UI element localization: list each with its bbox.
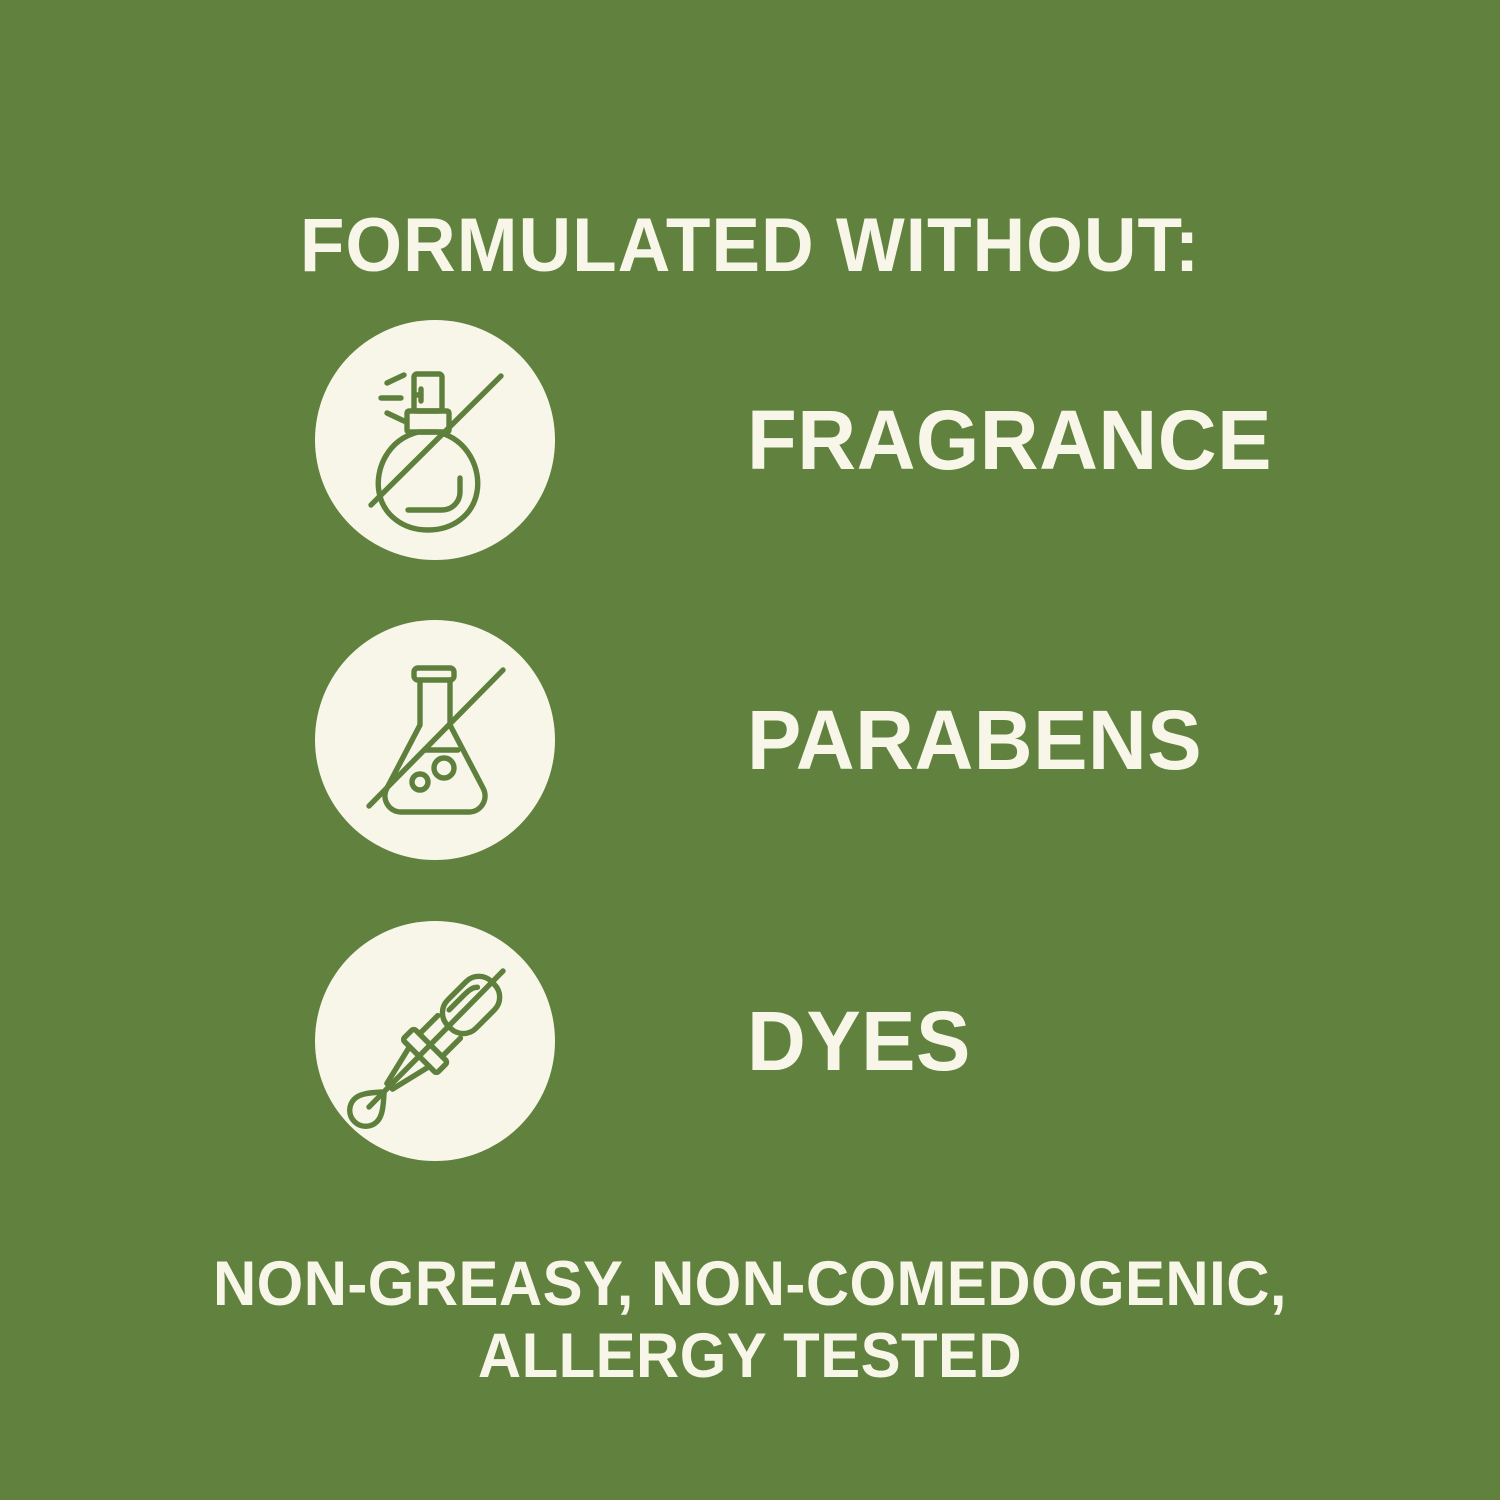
formulated-without-infographic: FORMULATED WITHOUT:	[0, 0, 1500, 1500]
claim-label: DYES	[747, 996, 971, 1086]
claim-label: FRAGRANCE	[747, 395, 1272, 485]
no-parabens-flask-icon	[315, 620, 555, 860]
no-fragrance-spray-bottle-icon	[315, 320, 555, 560]
claim-row: DYES	[315, 921, 1415, 1161]
no-dyes-dropper-icon	[315, 921, 555, 1161]
claim-row: PARABENS	[315, 620, 1415, 860]
footer-claims: NON-GREASY, NON-COMEDOGENIC, ALLERGY TES…	[38, 1248, 1463, 1392]
footer-line-1: NON-GREASY, NON-COMEDOGENIC,	[38, 1248, 1463, 1320]
claim-row: FRAGRANCE	[315, 320, 1415, 560]
footer-line-2: ALLERGY TESTED	[38, 1320, 1463, 1392]
claim-label: PARABENS	[747, 695, 1202, 785]
